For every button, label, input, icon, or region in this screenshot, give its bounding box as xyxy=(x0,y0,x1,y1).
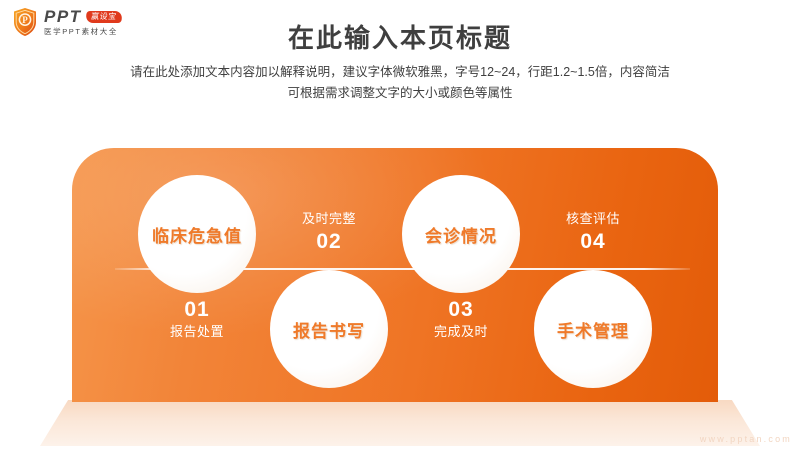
diagram-panel: 临床危急值 01 报告处置 报告书写 及时完整 02 会诊情况 03 完成及时 … xyxy=(72,148,718,402)
site-watermark: www.pptan.com xyxy=(700,434,792,444)
step-circle-1[interactable]: 临床危急值 xyxy=(138,175,256,293)
step-circle-3[interactable]: 会诊情况 xyxy=(402,175,520,293)
step-circle-label-4: 手术管理 xyxy=(557,317,629,342)
step-text-3: 03 完成及时 xyxy=(401,296,521,341)
page-title: 在此输入本页标题 xyxy=(0,18,800,55)
step-caption-3: 完成及时 xyxy=(401,323,521,341)
step-text-4: 核查评估 04 xyxy=(533,210,653,255)
step-text-1: 01 报告处置 xyxy=(137,296,257,341)
subtitle-line-1: 请在此处添加文本内容加以解释说明，建议字体微软雅黑，字号12~24，行距1.2~… xyxy=(0,62,800,83)
step-caption-2: 及时完整 xyxy=(269,210,389,228)
step-number-3: 03 xyxy=(401,296,521,323)
step-number-4: 04 xyxy=(533,228,653,255)
step-circle-4[interactable]: 手术管理 xyxy=(534,270,652,388)
step-text-2: 及时完整 02 xyxy=(269,210,389,255)
step-number-2: 02 xyxy=(269,228,389,255)
step-caption-4: 核查评估 xyxy=(533,210,653,228)
step-circle-label-1: 临床危急值 xyxy=(152,222,242,247)
step-circle-label-2: 报告书写 xyxy=(293,317,365,342)
panel-reflection xyxy=(40,400,760,446)
step-circle-label-3: 会诊情况 xyxy=(425,222,497,247)
step-caption-1: 报告处置 xyxy=(137,323,257,341)
subtitle-line-2: 可根据需求调整文字的大小或颜色等属性 xyxy=(0,83,800,104)
step-circle-2[interactable]: 报告书写 xyxy=(270,270,388,388)
step-number-1: 01 xyxy=(137,296,257,323)
page-subtitle: 请在此处添加文本内容加以解释说明，建议字体微软雅黑，字号12~24，行距1.2~… xyxy=(0,62,800,104)
